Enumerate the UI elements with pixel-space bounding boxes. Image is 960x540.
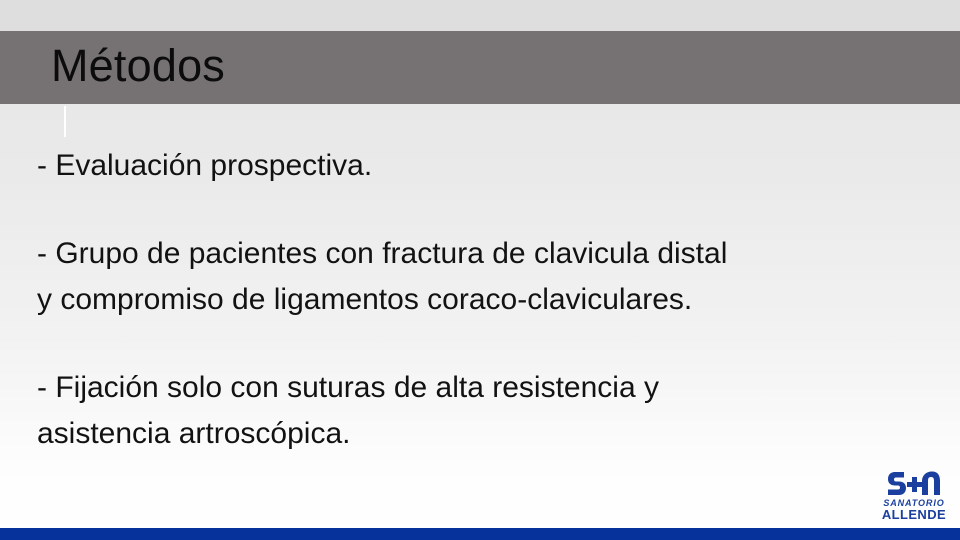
sanatorio-allende-s-plus-a-mark — [887, 470, 941, 497]
slide-title: Métodos — [51, 38, 225, 94]
logo-word-allende: ALLENDE — [878, 508, 950, 521]
bullet-paragraph-3: - Fijación solo con suturas de alta resi… — [37, 365, 927, 457]
paragraph-spacer — [37, 323, 927, 365]
slide-body: - Evaluación prospectiva. - Grupo de pac… — [37, 143, 927, 457]
title-accent-line — [64, 106, 66, 137]
paragraph-spacer — [37, 189, 927, 231]
top-strip — [0, 0, 960, 31]
presentation-slide: Métodos - Evaluación prospectiva. - Grup… — [0, 0, 960, 540]
bullet-paragraph-2: - Grupo de pacientes con fractura de cla… — [37, 231, 927, 323]
bottom-blue-bar — [0, 528, 960, 540]
bullet-paragraph-1: - Evaluación prospectiva. — [37, 143, 927, 189]
sanatorio-allende-logo: SANATORIO ALLENDE — [878, 470, 950, 526]
